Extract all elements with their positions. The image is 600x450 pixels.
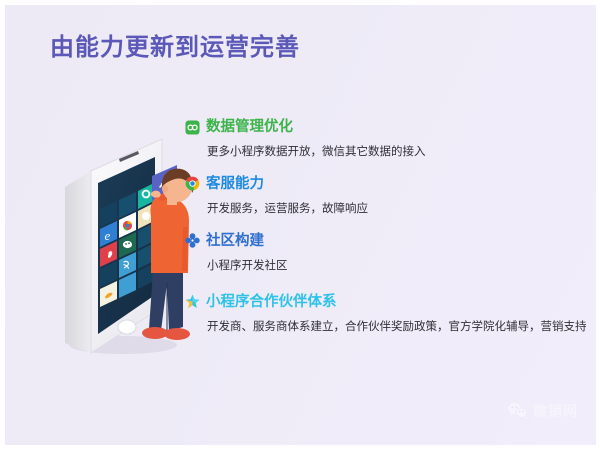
feature-item-community: 社区构建 小程序开发社区 (185, 231, 585, 274)
wechat-logo-icon (507, 402, 529, 420)
slide-canvas: 由能力更新到运营完善 (5, 5, 596, 445)
feature-item-data-management: 数据管理优化 更多小程序数据开放，微信其它数据的接入 (185, 117, 585, 160)
feature-title: 数据管理优化 (206, 120, 293, 135)
slide-frame: 由能力更新到运营完善 (0, 0, 600, 450)
feature-list: 数据管理优化 更多小程序数据开放，微信其它数据的接入 客服能力 (185, 117, 585, 335)
feature-description: 开发服务，运营服务，故障响应 (207, 202, 585, 217)
community-clover-icon (185, 233, 200, 248)
feature-heading: 社区构建 (185, 231, 585, 251)
feature-item-partner-system: 小程序合作伙伴体系 开发商、服务商体系建立，合作伙伴奖励政策，官方学院化辅导，营… (185, 292, 585, 335)
watermark-text: 微销网 (533, 401, 578, 421)
feature-title: 客服能力 (206, 177, 264, 192)
feature-description: 开发商、服务商体系建立，合作伙伴奖励政策，官方学院化辅导，营销支持 (207, 320, 585, 335)
feature-heading: 数据管理优化 (185, 117, 585, 137)
feature-item-customer-service: 客服能力 开发服务，运营服务，故障响应 (185, 174, 585, 217)
partner-star-icon (185, 294, 200, 309)
phone-illustration: e (65, 139, 162, 353)
feature-title: 小程序合作伙伴体系 (206, 295, 337, 310)
watermark: 微销网 (507, 401, 578, 421)
customer-service-icon (185, 176, 200, 191)
feature-title: 社区构建 (206, 234, 264, 249)
hero-illustration: e (31, 131, 211, 363)
feature-description: 更多小程序数据开放，微信其它数据的接入 (207, 145, 585, 160)
shoe (142, 327, 168, 339)
data-management-icon (185, 120, 200, 135)
page-title: 由能力更新到运营完善 (50, 27, 300, 62)
feature-heading: 客服能力 (185, 174, 585, 194)
feature-description: 小程序开发社区 (207, 259, 585, 274)
svg-text:e: e (105, 228, 111, 243)
feature-heading: 小程序合作伙伴体系 (185, 292, 585, 312)
